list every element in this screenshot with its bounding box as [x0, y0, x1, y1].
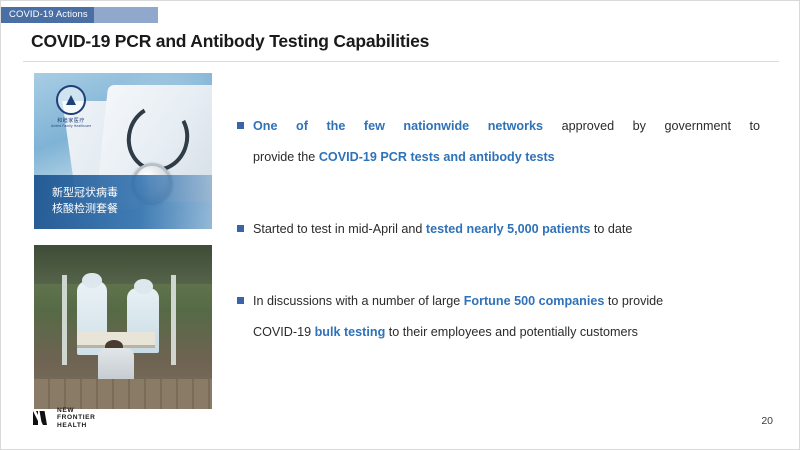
bullet-3-text-after-2: to their employees and potentially custo… [385, 325, 638, 339]
bullet-list: One of the few nationwide networks appro… [237, 111, 767, 348]
photo-banner-line2: 核酸检测套餐 [52, 201, 212, 217]
bullet-3-line-2: COVID-19 bulk testing to their employees… [253, 325, 638, 339]
bullet-item-2: Started to test in mid-April and tested … [237, 214, 767, 245]
company-logo: NEW FRONTIER HEALTH [31, 407, 96, 429]
outdoor-sample-collection-photo [34, 245, 212, 409]
page-number: 20 [761, 415, 773, 427]
photo2-deck-floor [34, 379, 212, 409]
bullet-marker-icon [237, 297, 244, 304]
bullet-3-accent-1: Fortune 500 companies [464, 294, 605, 308]
bullet-3-text-before: In discussions with a number of large [253, 294, 464, 308]
page-title: COVID-19 PCR and Antibody Testing Capabi… [31, 31, 429, 52]
bullet-item-3: In discussions with a number of large Fo… [237, 286, 767, 348]
slide: COVID-19 Actions COVID-19 PCR and Antibo… [0, 0, 800, 450]
ufh-logo-en: United Family Healthcare [50, 124, 92, 128]
title-divider [23, 61, 779, 62]
header-tab-accent [94, 7, 158, 23]
photo2-pole-left [62, 275, 67, 365]
bullet-1-accent-1: One of the few nationwide networks [253, 119, 543, 133]
ufh-logo-mark-icon [56, 85, 86, 115]
bullet-3-text-after: to provide [604, 294, 663, 308]
logo-line-2: FRONTIER [57, 414, 96, 421]
photo-banner-line1: 新型冠状病毒 [52, 185, 212, 201]
logo-line-1: NEW [57, 407, 96, 414]
photo2-worker-head-left [82, 273, 102, 288]
photo-banner: 新型冠状病毒 核酸检测套餐 [34, 175, 212, 229]
bullet-2-text-before: Started to test in mid-April and [253, 222, 426, 236]
bullet-1-line-2: provide the COVID-19 PCR tests and antib… [253, 150, 555, 164]
bullet-marker-icon [237, 225, 244, 232]
company-logo-text: NEW FRONTIER HEALTH [57, 407, 96, 429]
bullet-1-line-1: One of the few nationwide networks appro… [253, 111, 760, 142]
pcr-test-kit-promo-photo: 和睦家医疗 United Family Healthcare 新型冠状病毒 核酸… [34, 73, 212, 229]
bullet-3-accent-2: bulk testing [315, 325, 386, 339]
logo-line-3: HEALTH [57, 422, 96, 429]
bullet-item-1: One of the few nationwide networks appro… [237, 111, 767, 173]
bullet-1-accent-2: COVID-19 PCR tests and antibody tests [319, 150, 555, 164]
photo2-canopy [34, 245, 212, 284]
ufh-logo-cn: 和睦家医疗 [50, 117, 92, 124]
bullet-1-text-1: approved by government to [562, 119, 760, 133]
header-tab: COVID-19 Actions [1, 7, 158, 23]
bullet-2-text-after: to date [590, 222, 632, 236]
bullet-2-accent: tested nearly 5,000 patients [426, 222, 591, 236]
new-frontier-health-mark-icon [31, 408, 51, 428]
ufh-logo: 和睦家医疗 United Family Healthcare [50, 85, 92, 128]
bullet-3-text-before-2: COVID-19 [253, 325, 315, 339]
bullet-marker-icon [237, 122, 244, 129]
bullet-3-line-1: In discussions with a number of large Fo… [253, 294, 663, 308]
photo2-pole-right [171, 275, 176, 365]
bullet-1-text-2: provide the [253, 150, 315, 164]
header-tab-label: COVID-19 Actions [1, 7, 94, 23]
